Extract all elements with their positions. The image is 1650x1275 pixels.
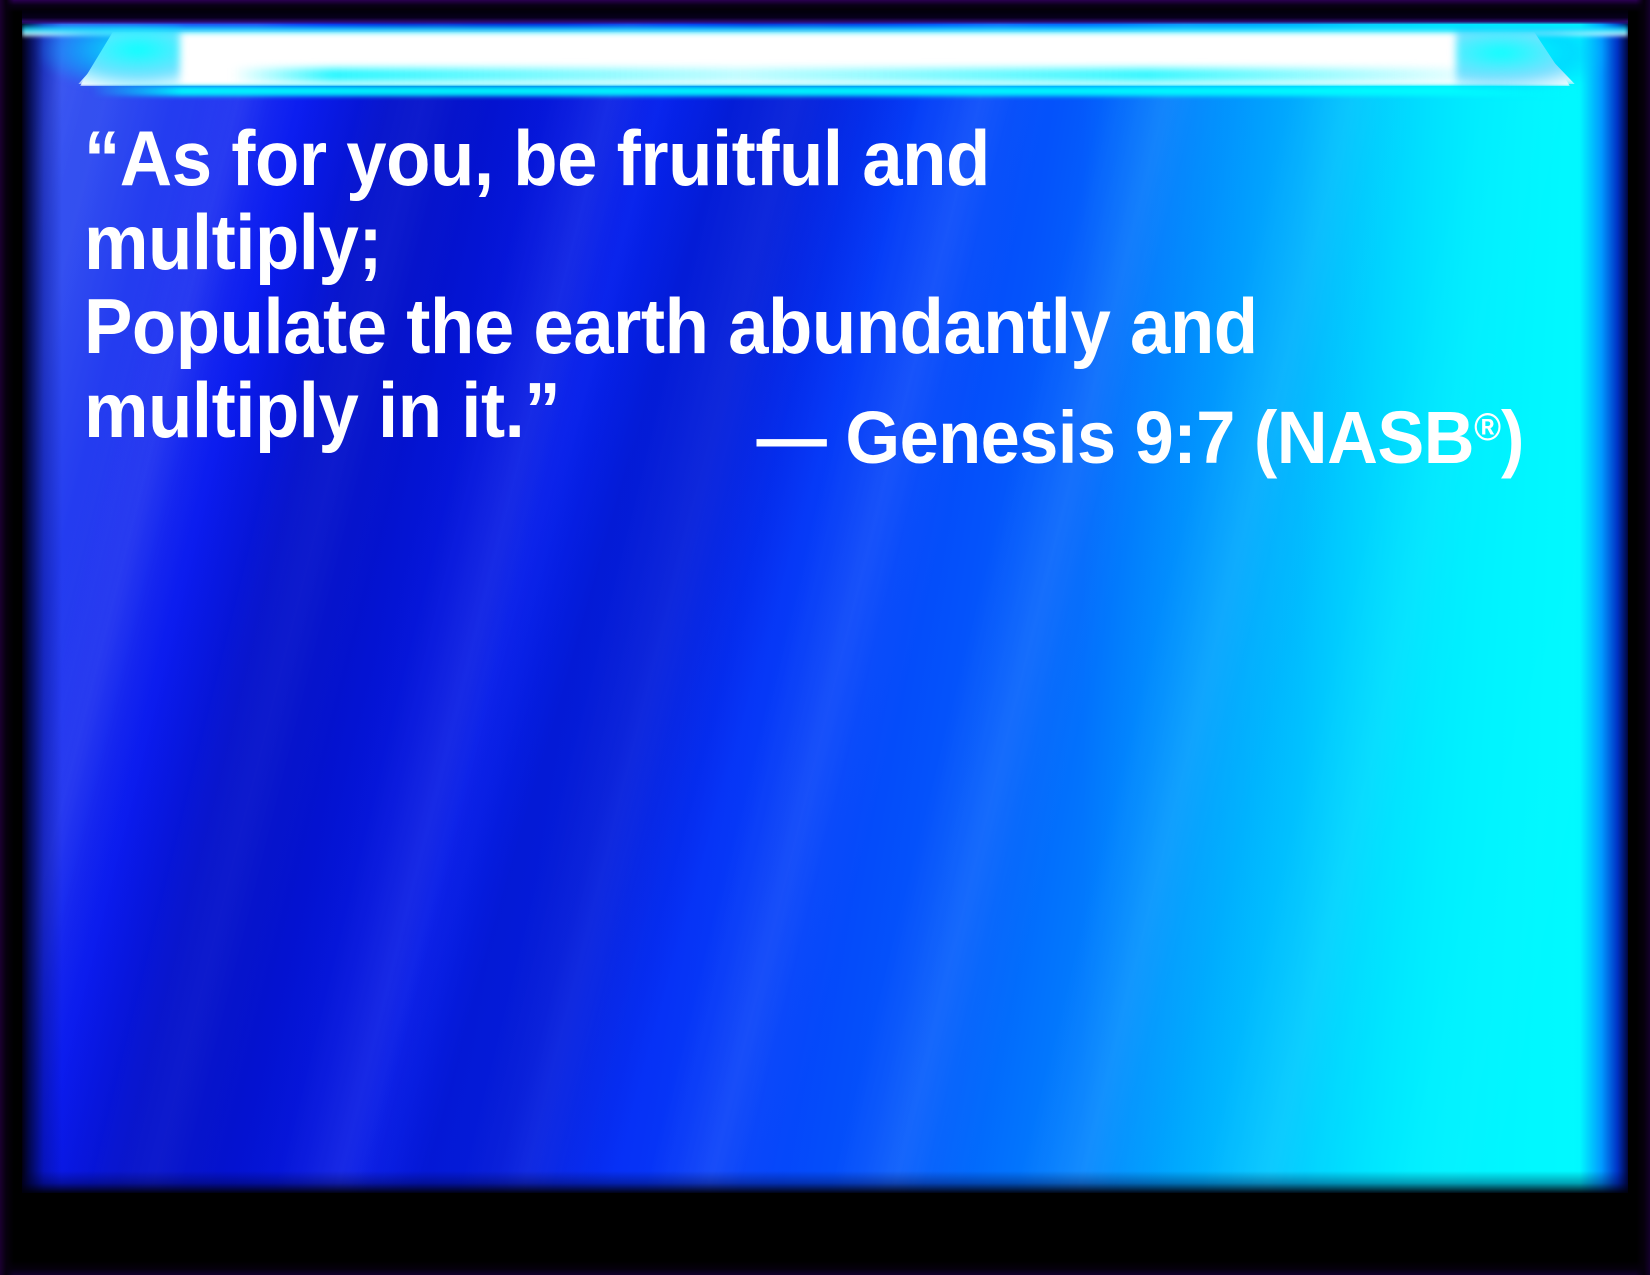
attribution-em-dash: — (756, 396, 845, 479)
slide-frame: “As for you, be fruitful and multiply; P… (0, 0, 1650, 1275)
attribution-reference: Genesis 9:7 (NASB (845, 396, 1474, 479)
slide-background: “As for you, be fruitful and multiply; P… (22, 10, 1628, 1193)
slide-text-layer: “As for you, be fruitful and multiply; P… (22, 10, 1628, 1193)
registered-trademark-icon: ® (1474, 406, 1501, 449)
attribution-close-paren: ) (1501, 396, 1524, 479)
scripture-attribution: — Genesis 9:7 (NASB®) (156, 388, 1524, 478)
